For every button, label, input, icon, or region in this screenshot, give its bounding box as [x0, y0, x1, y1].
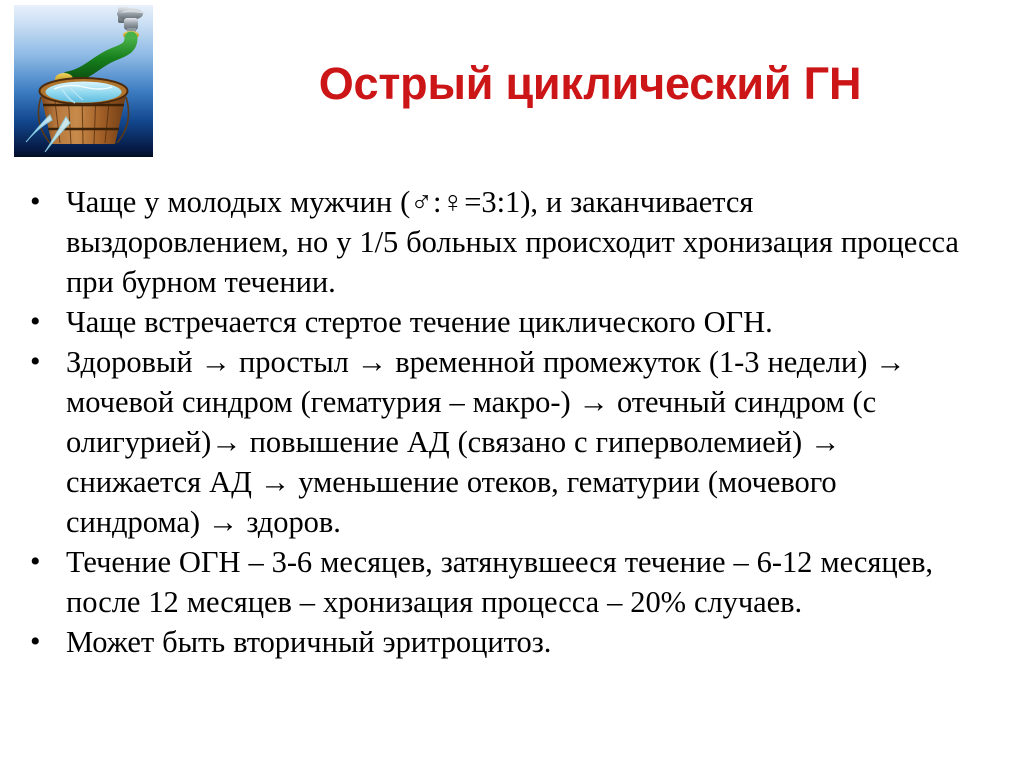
list-item: • Может быть вторичный эритроцитоз.: [0, 622, 1024, 662]
bullet-point-icon: •: [30, 182, 44, 222]
water-surface: [46, 82, 122, 103]
list-item: • Чаще у молодых мужчин (♂:♀=3:1), и зак…: [0, 182, 1024, 302]
bullet-duration-text: Течение ОГН – 3-6 месяцев, затянувшееся …: [66, 542, 968, 622]
list-item: • Чаще встречается стертое течение цикли…: [0, 302, 1024, 342]
wooden-bucket-icon: [38, 78, 128, 144]
page-title: Острый циклический ГН: [160, 58, 1020, 110]
hose-icon: [68, 38, 131, 78]
bullet-point-icon: •: [30, 342, 44, 382]
bullet-latent-course-text: Чаще встречается стертое течение цикличе…: [66, 302, 968, 342]
bucket-illustration-graphic: [14, 5, 153, 157]
list-item: • Течение ОГН – 3-6 месяцев, затянувшеес…: [0, 542, 1024, 622]
bullet-erythrocytosis-text: Может быть вторичный эритроцитоз.: [66, 622, 968, 662]
bullet-point-icon: •: [30, 622, 44, 662]
list-item: • Здоровый → простыл → временной промежу…: [0, 342, 1024, 542]
bullet-point-icon: •: [30, 302, 44, 342]
slide-header: Острый циклический ГН: [0, 0, 1024, 165]
leaking-bucket-illustration: [14, 5, 153, 157]
bullet-point-icon: •: [30, 542, 44, 582]
bullet-demographics-text: Чаще у молодых мужчин (♂:♀=3:1), и закан…: [66, 182, 968, 302]
bullet-clinical-sequence-text: Здоровый → простыл → временной промежуто…: [66, 342, 968, 542]
bullet-list: • Чаще у молодых мужчин (♂:♀=3:1), и зак…: [0, 182, 1024, 662]
